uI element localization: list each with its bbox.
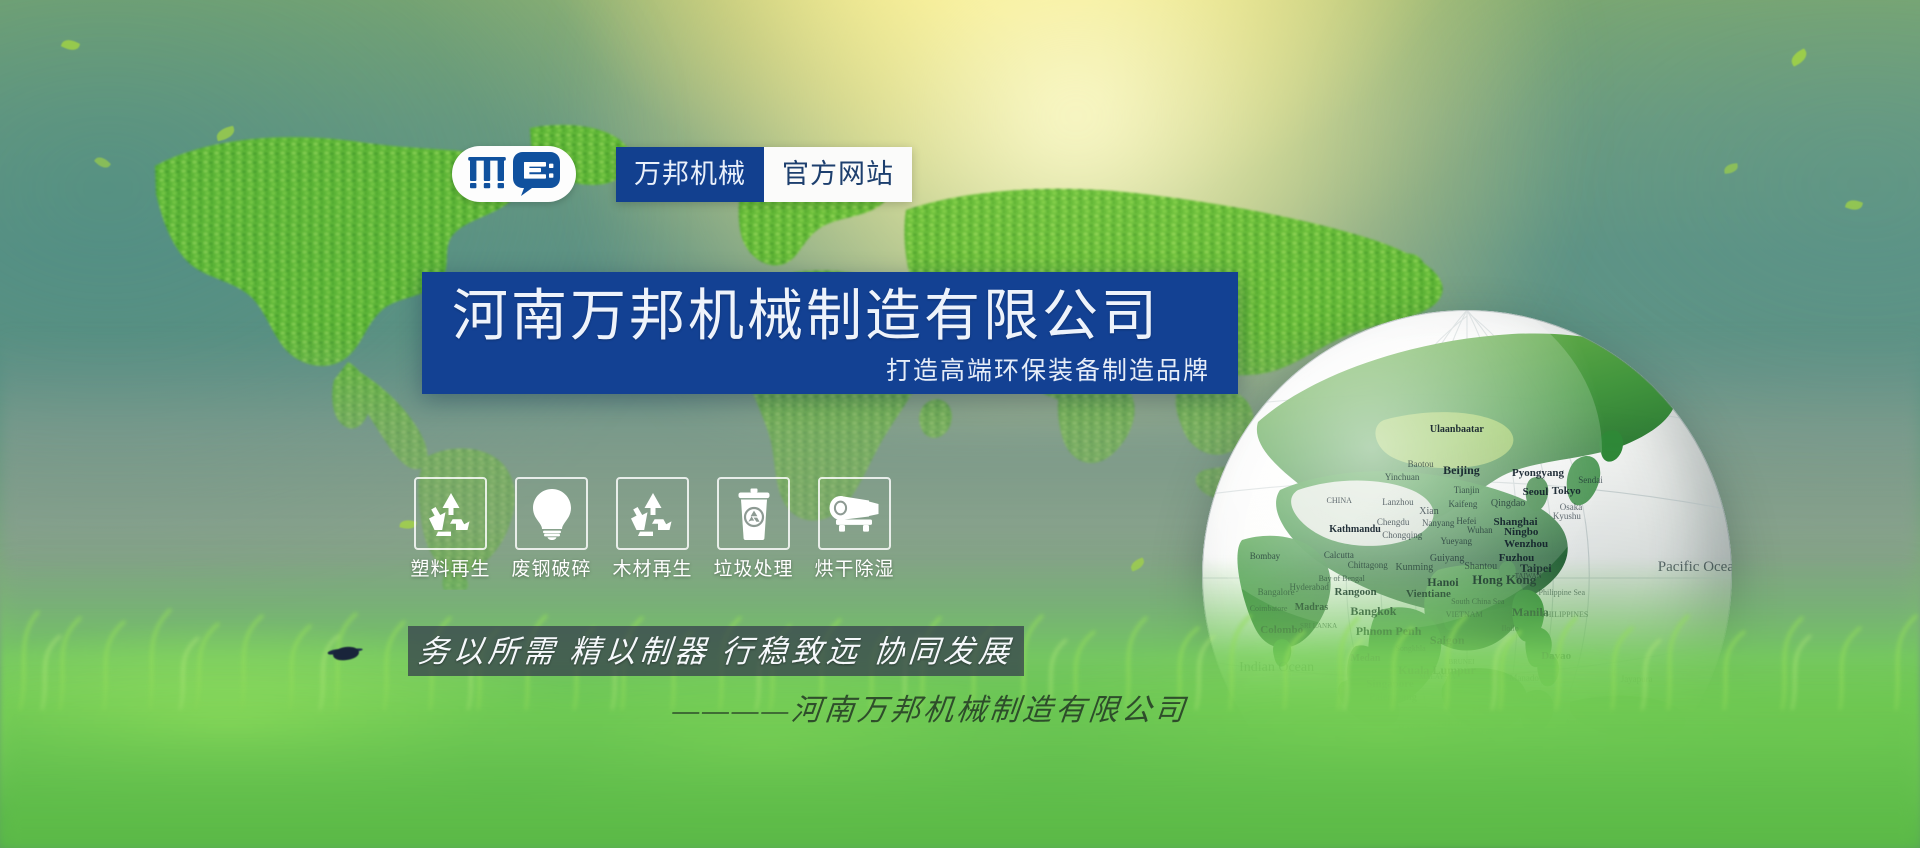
brand-logo[interactable] xyxy=(452,146,576,202)
nav-tabs: 万邦机械 官方网站 xyxy=(616,147,912,202)
service-item-drying-dehumidifying[interactable]: 烘干除湿 xyxy=(818,477,891,579)
slogan-text: 务以所需 精以制器 行稳致远 协同发展 xyxy=(417,636,1015,667)
service-label: 废钢破碎 xyxy=(512,560,592,579)
slogan-signature: ————河南万邦机械制造有限公司 xyxy=(658,696,1201,726)
service-item-wood-recycling[interactable]: 木材再生 xyxy=(616,477,689,579)
logo-speech-bubble-icon xyxy=(512,151,561,197)
nav-tab-website[interactable]: 官方网站 xyxy=(764,147,912,202)
service-label: 垃圾处理 xyxy=(714,560,794,579)
hero-banner-page: UlaanbaatarBeijingBaotouYinchuanPyongyan… xyxy=(0,0,1920,848)
service-icon-box xyxy=(818,477,891,550)
service-item-waste-treatment[interactable]: 垃圾处理 xyxy=(717,477,790,579)
service-icon-box xyxy=(717,477,790,550)
service-label: 木材再生 xyxy=(613,560,693,579)
service-label: 塑料再生 xyxy=(411,560,491,579)
slogan-band: 务以所需 精以制器 行稳致远 协同发展 xyxy=(408,626,1024,676)
recycle-icon xyxy=(628,490,678,537)
service-item-plastic-recycling[interactable]: 塑料再生 xyxy=(414,477,487,579)
recycle-icon xyxy=(426,490,476,537)
trash-bin-icon xyxy=(734,488,774,540)
dryer-drum-icon xyxy=(828,495,882,533)
nav-tab-brand[interactable]: 万邦机械 xyxy=(616,147,764,202)
service-item-scrap-steel-crushing[interactable]: 废钢破碎 xyxy=(515,477,588,579)
logo-w-icon xyxy=(467,157,507,191)
lightbulb-icon xyxy=(530,488,574,540)
service-icon-box xyxy=(414,477,487,550)
service-icon-box xyxy=(515,477,588,550)
service-label: 烘干除湿 xyxy=(815,560,895,579)
headline-banner: 河南万邦机械制造有限公司 打造高端环保装备制造品牌 xyxy=(422,272,1238,394)
page-title: 河南万邦机械制造有限公司 xyxy=(452,288,1160,344)
service-icon-row: 塑料再生 废钢破碎 xyxy=(414,477,891,579)
site-header: 万邦机械 官方网站 xyxy=(452,146,912,202)
service-icon-box xyxy=(616,477,689,550)
page-subtitle: 打造高端环保装备制造品牌 xyxy=(886,359,1210,384)
